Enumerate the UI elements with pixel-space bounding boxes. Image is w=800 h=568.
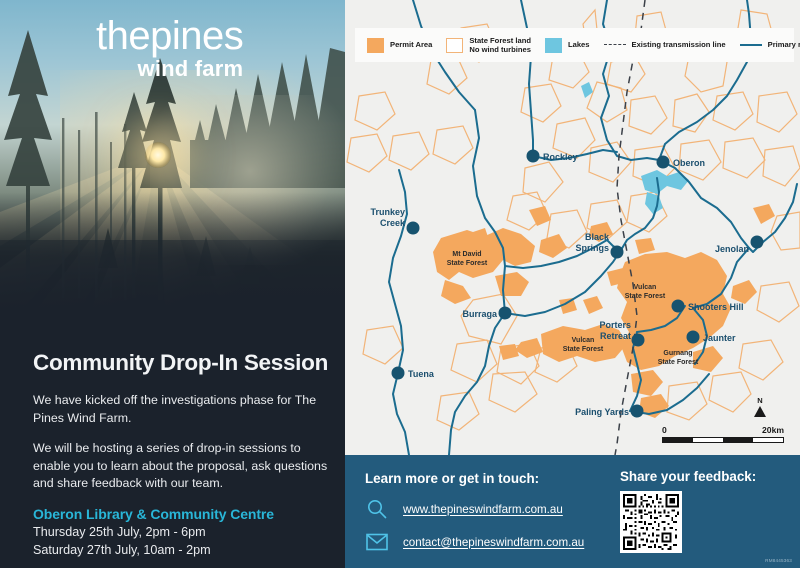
map-scale-bar: 0 20km (662, 425, 784, 443)
map-legend: Permit Area State Forest land No wind tu… (355, 28, 794, 62)
town-label-trunkey-creek-l1: Trunkey (370, 207, 405, 217)
legend-item-transmission-line: Existing transmission line (604, 40, 726, 49)
town-label-rockley: Rockley (543, 152, 578, 162)
share-feedback-heading: Share your feedback: (620, 469, 786, 484)
email-link[interactable]: contact@thepineswindfarm.com.au (403, 536, 584, 549)
right-side: Rockley Trunkey Creek Oberon Jenolan Bla… (345, 0, 800, 568)
session-time-1: Thursday 25th July, 2pm - 6pm (33, 524, 333, 542)
town-label-porters-retreat-l2: Retreat (600, 331, 631, 341)
qr-code-graphic (623, 494, 679, 550)
north-arrow-triangle (754, 406, 766, 417)
forest-label-vulcan-sw-l1: Vulcan (572, 337, 595, 344)
legend-label-permit-area: Permit Area (390, 40, 432, 49)
forest-label-gurnang-l1: Gurnang (663, 350, 692, 357)
town-label-paling-yards: Paling Yards (575, 407, 629, 417)
town-label-shooters-hill: Shooters Hill (688, 302, 744, 312)
left-content: Community Drop-In Session We have kicked… (33, 350, 333, 560)
legend-label-state-forest: State Forest land No wind turbines (469, 36, 531, 54)
legend-item-state-forest: State Forest land No wind turbines (446, 36, 531, 54)
page-title: Community Drop-In Session (33, 350, 333, 376)
permit-area-swatch (367, 38, 384, 53)
forest-label-mt-david-l2: State Forest (447, 260, 488, 267)
footer-contact-block: Learn more or get in touch: www.thepines… (345, 455, 620, 568)
email-row[interactable]: contact@thepineswindfarm.com.au (365, 530, 620, 554)
map-canvas: Rockley Trunkey Creek Oberon Jenolan Bla… (345, 0, 800, 455)
footer-heading: Learn more or get in touch: (365, 471, 620, 486)
legend-label-transmission-line: Existing transmission line (632, 40, 726, 49)
website-link[interactable]: www.thepineswindfarm.com.au (403, 503, 563, 516)
legend-label-state-forest-line2: No wind turbines (469, 45, 531, 54)
contact-footer: Learn more or get in touch: www.thepines… (345, 455, 800, 568)
transmission-line-swatch (604, 44, 626, 45)
town-label-trunkey-creek-l2: Creek (380, 218, 406, 228)
legend-item-permit-area: Permit Area (367, 38, 432, 53)
town-label-jenolan: Jenolan (715, 244, 749, 254)
sun (145, 142, 171, 168)
forest-label-gurnang-l2: State Forest (658, 359, 699, 366)
forest-label-vulcan-ne-l2: State Forest (625, 293, 666, 300)
legend-label-primary-road: Primary road (768, 40, 800, 49)
forest-label-mt-david-l1: Mt David (452, 251, 481, 258)
venue-name: Oberon Library & Community Centre (33, 506, 333, 522)
flyer-page: thepines wind farm Community Drop-In Ses… (0, 0, 800, 568)
north-arrow: N (754, 397, 766, 418)
logo-secondary-text: wind farm (96, 58, 243, 80)
reference-code: RM8445363 (765, 558, 792, 563)
town-label-burraga: Burraga (462, 309, 498, 319)
town-label-porters-retreat-l1: Porters (599, 320, 631, 330)
forest-label-vulcan-sw-l2: State Forest (563, 346, 604, 353)
town-label-tuena: Tuena (408, 369, 435, 379)
project-map[interactable]: Rockley Trunkey Creek Oberon Jenolan Bla… (345, 0, 800, 455)
footer-feedback-block: Share your feedback: (620, 455, 800, 568)
intro-paragraph-1: We have kicked off the investigations ph… (33, 392, 333, 427)
scale-min-label: 0 (662, 425, 667, 435)
scale-numbers: 0 20km (662, 425, 784, 435)
forest-label-vulcan-ne-l1: Vulcan (634, 284, 657, 291)
town-label-jaunter: Jaunter (703, 333, 736, 343)
envelope-icon (365, 530, 389, 554)
search-icon (365, 497, 389, 521)
north-arrow-label: N (754, 397, 766, 405)
left-panel: thepines wind farm Community Drop-In Ses… (0, 0, 345, 568)
town-label-black-springs-l1: Black (585, 232, 610, 242)
town-label-oberon: Oberon (673, 158, 705, 168)
website-row[interactable]: www.thepineswindfarm.com.au (365, 497, 620, 521)
intro-paragraph-2: We will be hosting a series of drop-in s… (33, 440, 333, 493)
qr-code[interactable] (620, 491, 682, 553)
legend-item-lakes: Lakes (545, 38, 590, 53)
primary-road-swatch (740, 44, 762, 46)
legend-item-primary-road: Primary road (740, 40, 800, 49)
scale-max-label: 20km (762, 425, 784, 435)
legend-label-state-forest-line1: State Forest land (469, 36, 531, 45)
town-label-black-springs-l2: Springs (575, 243, 609, 253)
brand-logo: thepines wind farm (96, 16, 243, 80)
legend-label-lakes: Lakes (568, 40, 590, 49)
session-time-2: Saturday 27th July, 10am - 2pm (33, 542, 333, 560)
logo-primary-text: thepines (96, 16, 243, 56)
scale-bar-graphic (662, 437, 784, 443)
lakes-swatch (545, 38, 562, 53)
state-forest-swatch (446, 38, 463, 53)
photo-bottom-fade (0, 192, 345, 312)
